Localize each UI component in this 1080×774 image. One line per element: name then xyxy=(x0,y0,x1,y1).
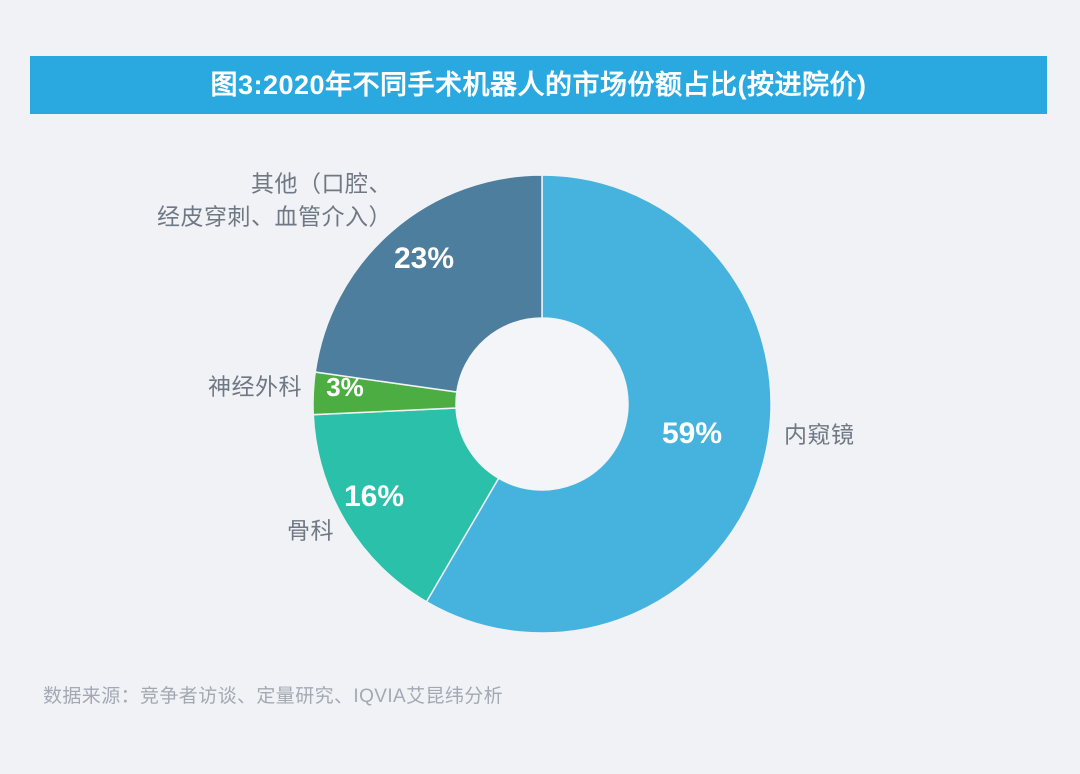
figure-root: 图3:2020年不同手术机器人的市场份额占比(按进院价) 59%16%3%23%… xyxy=(0,0,1080,774)
donut-chart: 59%16%3%23% 内窥镜骨科神经外科其他（口腔、 经皮穿刺、血管介入） xyxy=(0,120,1080,665)
data-source-note: 数据来源：竞争者访谈、定量研究、IQVIA艾昆纬分析 xyxy=(43,681,503,708)
slice-category-label: 内窥镜 xyxy=(784,418,855,451)
slice-category-label: 神经外科 xyxy=(208,370,302,403)
page-title: 图3:2020年不同手术机器人的市场份额占比(按进院价) xyxy=(210,72,866,99)
figure-title-banner: 图3:2020年不同手术机器人的市场份额占比(按进院价) xyxy=(30,56,1047,114)
slice-category-label: 骨科 xyxy=(287,514,334,547)
slice-category-label: 其他（口腔、 经皮穿刺、血管介入） xyxy=(157,168,392,235)
donut-hole xyxy=(456,318,628,490)
